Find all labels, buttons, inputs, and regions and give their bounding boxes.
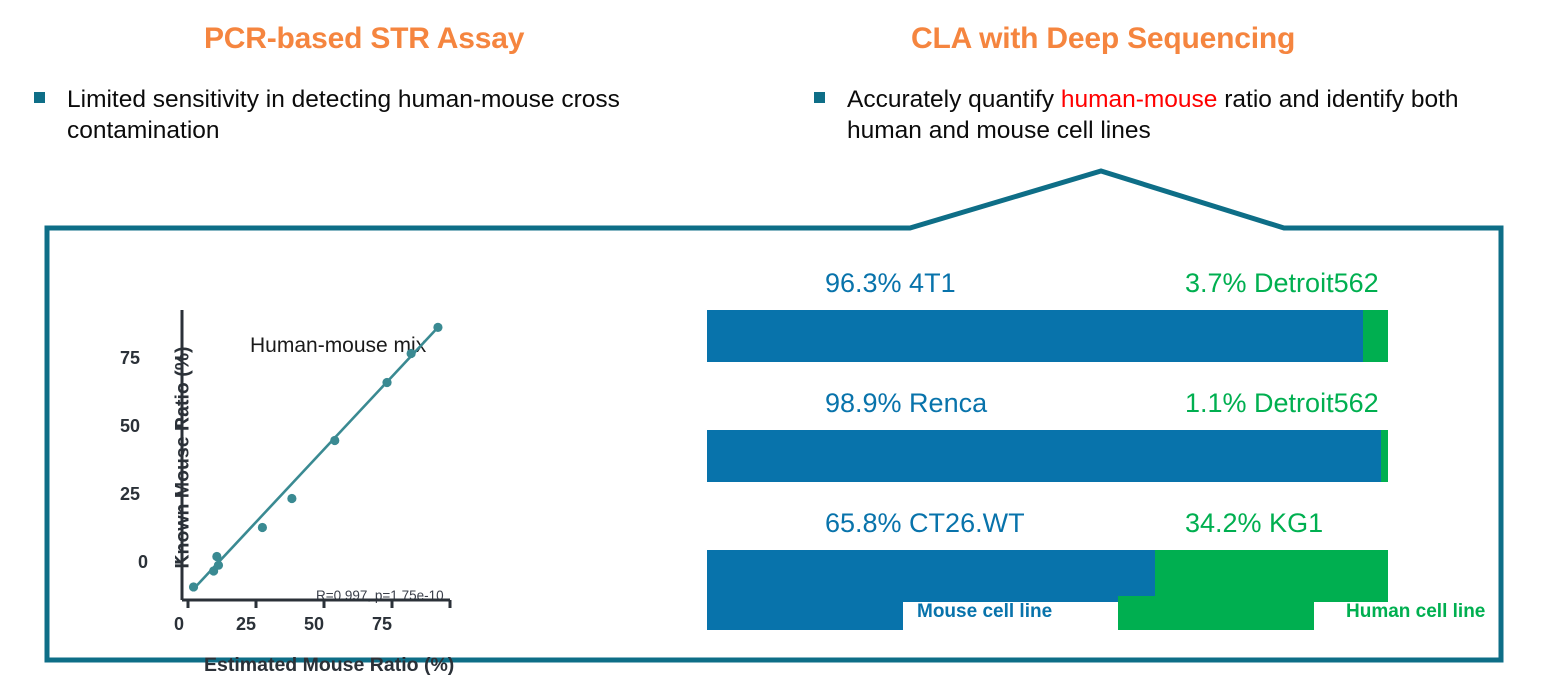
scatter-series [189,323,443,592]
scatter-canvas [120,250,520,640]
bar-label-human: 3.7% Detroit562 [1185,268,1379,299]
left-column-title: PCR-based STR Assay [204,22,524,56]
bar-segment-mouse [707,550,1155,602]
right-bullet-text-before: Accurately quantify [847,86,1061,113]
right-bullet-highlight: human-mouse [1061,86,1218,113]
bar-chart-legend: Mouse cell line Human cell line [707,596,1497,630]
square-bullet-icon [34,92,45,103]
scatter-point [258,523,267,532]
bar-label-mouse: 65.8% CT26.WT [825,508,1025,539]
scatter-point [189,582,198,591]
bar-segment-human [1381,430,1388,482]
stacked-bar-chart: 96.3% 4T1 3.7% Detroit562 98.9% Renca 1.… [707,268,1497,658]
right-column-title: CLA with Deep Sequencing [911,22,1295,56]
scatter-plot: Human-mouse mix Known Mouse Ratio (%) Es… [120,250,520,640]
bar-segment-human [1155,550,1388,602]
scatter-fit-line [193,327,438,589]
callout-frame: Human-mouse mix Known Mouse Ratio (%) Es… [44,168,1504,663]
scatter-point [330,436,339,445]
left-bullet-row: Limited sensitivity in detecting human-m… [34,84,774,146]
bar-track [707,550,1388,602]
bar-segment-human [1363,310,1388,362]
bar-label-human: 34.2% KG1 [1185,508,1323,539]
bar-label-mouse: 98.9% Renca [825,388,987,419]
left-bullet-text: Limited sensitivity in detecting human-m… [67,84,774,146]
bar-segment-mouse [707,310,1363,362]
legend-label-human: Human cell line [1346,601,1485,623]
right-bullet-row: Accurately quantify human-mouse ratio an… [814,84,1474,146]
legend-label-mouse: Mouse cell line [917,601,1052,623]
scatter-point [214,561,223,570]
scatter-point [382,378,391,387]
scatter-point [407,349,416,358]
slide-root: PCR-based STR Assay Limited sensitivity … [0,0,1548,691]
scatter-point [433,323,442,332]
scatter-x-axis-label: Estimated Mouse Ratio (%) [204,654,454,677]
legend-swatch-human [1118,596,1314,630]
bar-label-mouse: 96.3% 4T1 [825,268,956,299]
right-bullet-text: Accurately quantify human-mouse ratio an… [847,84,1474,146]
legend-swatch-mouse [707,596,903,630]
bar-label-human: 1.1% Detroit562 [1185,388,1379,419]
bar-segment-mouse [707,430,1381,482]
bar-track [707,430,1388,482]
square-bullet-icon [814,92,825,103]
scatter-point [287,494,296,503]
scatter-point [212,552,221,561]
bar-track [707,310,1388,362]
